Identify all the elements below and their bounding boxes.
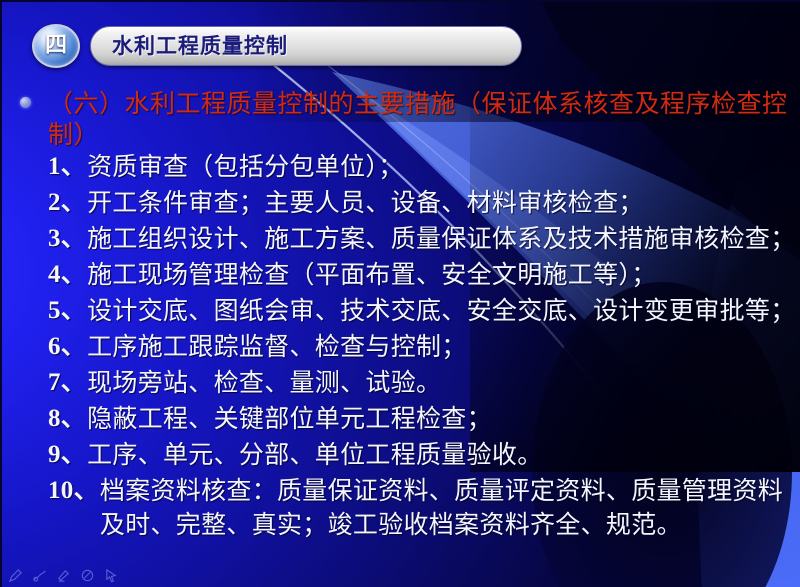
highlighter-icon[interactable] [56,568,71,583]
section-number-label: 四 [45,35,67,57]
list-item-text: 资质审查（包括分包单位）； [87,150,796,184]
list-item-text: 施工现场管理检查（平面布置、安全文明施工等）； [87,258,796,292]
page-title: 水利工程质量控制 [112,29,288,63]
list-item-number: 4、 [48,258,87,292]
list-item-number: 1、 [48,150,87,184]
list-item: 4、施工现场管理检查（平面布置、安全文明施工等）； [48,258,796,292]
list-item-number: 8、 [48,402,87,436]
list-item-text: 开工条件审查；主要人员、设备、材料审核检查； [87,186,796,220]
list-item-text: 隐蔽工程、关键部位单元工程检查； [87,402,796,436]
annotation-toolbar[interactable] [8,568,119,583]
list-item: 8、隐蔽工程、关键部位单元工程检查； [48,402,796,436]
list-item-number: 9、 [48,438,87,472]
list-item-number: 10、 [48,474,100,508]
list-item-text: 档案资料核查：质量保证资料、质量评定资料、质量管理资料及时、完整、真实；竣工验收… [100,474,796,542]
list-item: 6、工序施工跟踪监督、检查与控制； [48,330,796,364]
list-item-text: 施工组织设计、施工方案、质量保证体系及技术措施审核检查； [87,222,796,256]
measures-list: 1、资质审查（包括分包单位）；2、开工条件审查；主要人员、设备、材料审核检查；3… [48,150,796,544]
list-item: 3、施工组织设计、施工方案、质量保证体系及技术措施审核检查； [48,222,796,256]
list-item-number: 2、 [48,186,87,220]
pointer-icon[interactable] [104,568,119,583]
slide-title-bar: 水利工程质量控制 四 [32,24,522,68]
list-item-number: 7、 [48,366,87,400]
list-item-text: 现场旁站、检查、量测、试验。 [87,366,796,400]
marker-icon[interactable] [32,568,47,583]
list-item-number: 5、 [48,294,87,328]
list-item-text: 工序施工跟踪监督、检查与控制； [87,330,796,364]
list-item: 5、设计交底、图纸会审、技术交底、安全交底、设计变更审批等； [48,294,796,328]
list-item-number: 3、 [48,222,87,256]
list-item-text: 设计交底、图纸会审、技术交底、安全交底、设计变更审批等； [87,294,796,328]
bullet-dot-icon [20,97,31,108]
list-item-text: 工序、单元、分部、单位工程质量验收。 [87,438,796,472]
heading-bullet-row: （六）水利工程质量控制的主要措施（保证体系核查及程序检查控制） [16,88,788,150]
list-item: 10、档案资料核查：质量保证资料、质量评定资料、质量管理资料及时、完整、真实；竣… [48,474,796,542]
list-item: 9、工序、单元、分部、单位工程质量验收。 [48,438,796,472]
list-item: 7、现场旁站、检查、量测、试验。 [48,366,796,400]
section-heading: （六）水利工程质量控制的主要措施（保证体系核查及程序检查控制） [48,88,788,150]
list-item: 2、开工条件审查；主要人员、设备、材料审核检查； [48,186,796,220]
pen-icon[interactable] [8,568,23,583]
eraser-icon[interactable] [80,568,95,583]
section-number-badge: 四 [32,24,80,68]
presentation-slide: 水利工程质量控制 四 （六）水利工程质量控制的主要措施（保证体系核查及程序检查控… [0,0,800,587]
list-item: 1、资质审查（包括分包单位）； [48,150,796,184]
list-item-number: 6、 [48,330,87,364]
